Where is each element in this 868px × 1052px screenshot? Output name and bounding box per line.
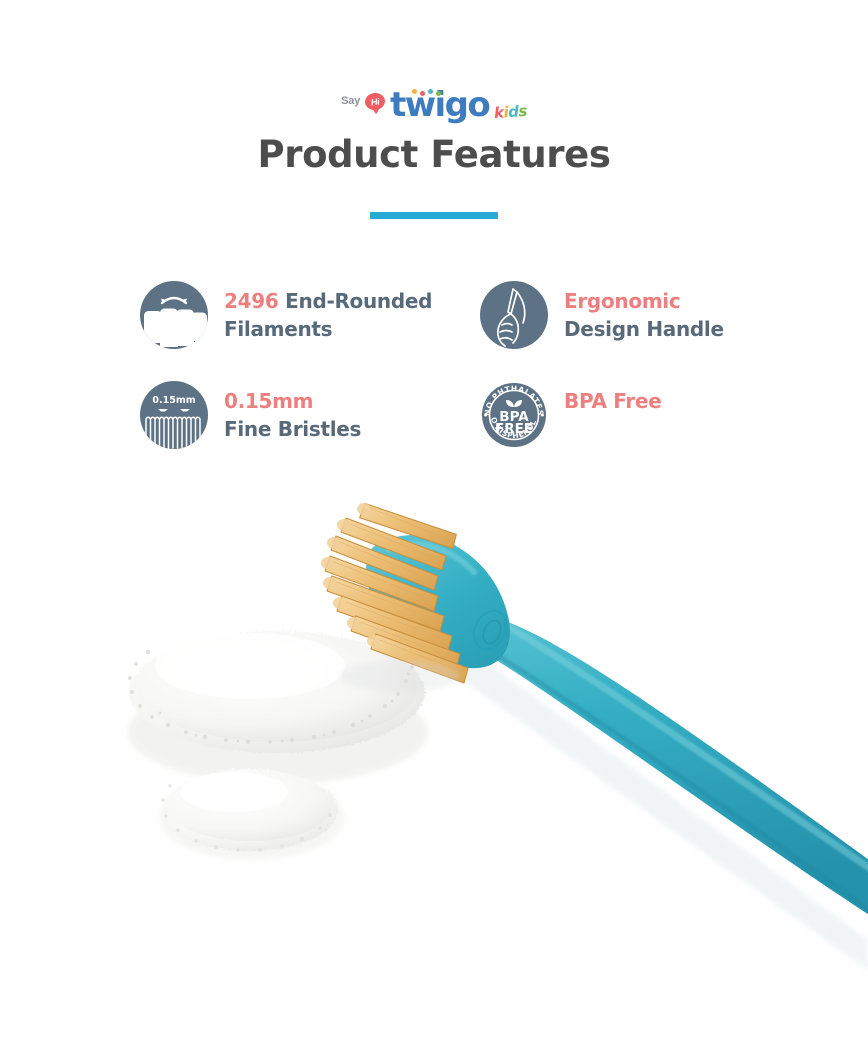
feature-label-line2: Fine Bristles — [224, 417, 361, 441]
feature-item-filaments: 2496 End-Rounded Filaments — [140, 278, 480, 378]
feature-item-bpa-free: NO PHTHALATES NO BISPHENOL A BPA FREE — [480, 378, 780, 478]
feature-highlight: 2496 — [224, 289, 278, 313]
feature-highlight: BPA Free — [564, 389, 661, 413]
svg-text:FREE: FREE — [495, 421, 533, 437]
feature-grid: 2496 End-Rounded Filaments — [140, 278, 780, 478]
feature-highlight: 0.15mm — [224, 389, 313, 413]
bpa-free-badge-icon: NO PHTHALATES NO BISPHENOL A BPA FREE — [480, 381, 548, 449]
brand-logo: Say Hi twigo kids — [0, 84, 868, 124]
title-underline-rule — [370, 212, 498, 219]
feature-label-ergonomic: Ergonomic Design Handle — [564, 278, 724, 344]
feature-item-ergonomic: Ergonomic Design Handle — [480, 278, 780, 378]
feature-highlight: Ergonomic — [564, 289, 680, 313]
product-photo — [0, 470, 868, 1052]
logo-hi-label: Hi — [370, 95, 380, 106]
feature-label-line1: End-Rounded — [285, 289, 432, 313]
logo-hi-bubble-icon: Hi — [364, 91, 386, 111]
feature-label-fine-bristles: 0.15mm Fine Bristles — [224, 378, 361, 444]
feature-label-bpa-free: BPA Free — [564, 378, 661, 415]
svg-text:0.15mm: 0.15mm — [152, 395, 195, 406]
bristle-thickness-icon: 0.15mm — [140, 381, 208, 449]
feature-label-line2: Filaments — [224, 317, 332, 341]
product-features-page: Say Hi twigo kids Product Features — [0, 0, 868, 1052]
hand-holding-brush-icon — [480, 281, 548, 349]
logo-wordmark: twigo — [390, 88, 489, 122]
logo-kids-wordmark: kids — [493, 102, 527, 122]
feature-item-fine-bristles: 0.15mm 0.15mm Fine Bristles — [140, 378, 480, 478]
feature-label-filaments: 2496 End-Rounded Filaments — [224, 278, 432, 344]
logo-say-label: Say — [341, 95, 360, 107]
bristle-tufts-icon — [140, 281, 208, 349]
page-title: Product Features — [0, 133, 868, 176]
logo-dots-icon — [412, 89, 446, 96]
feature-label-line2: Design Handle — [564, 317, 724, 341]
